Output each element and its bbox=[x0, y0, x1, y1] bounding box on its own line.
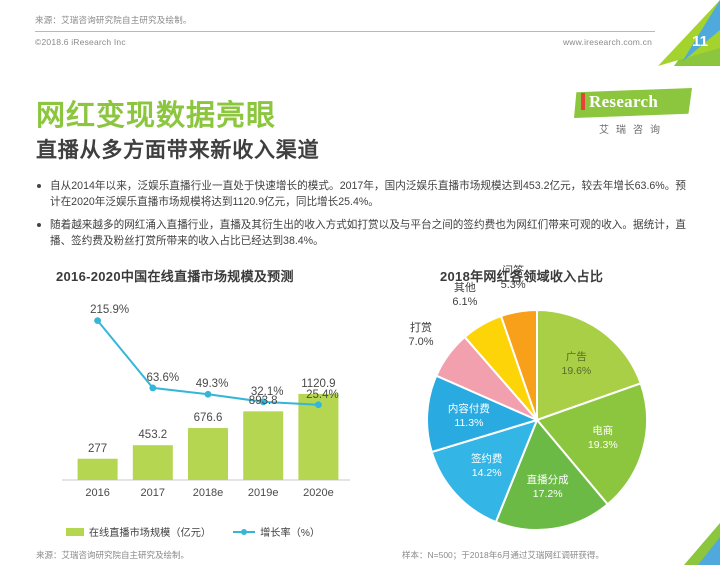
legend-item-growth-rate: 增长率（%） bbox=[233, 524, 320, 539]
bar-chart: 2772016453.22017676.62018e893.82019e1120… bbox=[28, 296, 358, 544]
website-url: www.iresearch.com.cn bbox=[563, 37, 652, 47]
pie-chart: 广告19.6%电商19.3%直播分成17.2%签约费14.2%内容付费11.3%… bbox=[372, 292, 707, 547]
pie-slice-value: 7.0% bbox=[408, 335, 433, 349]
corner-decoration-bottom-right-icon bbox=[660, 507, 720, 565]
legend-swatch-bar-icon bbox=[66, 528, 84, 536]
bar bbox=[78, 459, 118, 480]
pie-slice-label: 内容付费 bbox=[448, 402, 490, 416]
copyright-text: ©2018.6 iResearch Inc bbox=[35, 37, 126, 47]
legend-label: 增长率（%） bbox=[260, 524, 320, 539]
line-value-label: 25.4% bbox=[306, 389, 339, 401]
bar-value-label: 277 bbox=[88, 443, 107, 455]
bar bbox=[133, 445, 173, 480]
x-axis-tick: 2019e bbox=[248, 487, 279, 499]
bar-value-label: 676.6 bbox=[194, 412, 223, 424]
pie-slice-value: 14.2% bbox=[471, 466, 503, 480]
bar bbox=[243, 411, 283, 480]
pie-slice-value: 11.3% bbox=[448, 416, 490, 430]
pie-inner-label: 电商19.3% bbox=[588, 424, 618, 452]
x-axis-tick: 2016 bbox=[85, 487, 109, 499]
list-item: 随着越来越多的网红涌入直播行业，直播及其衍生出的收入方式如打赏以及与平台之间的签… bbox=[36, 217, 686, 249]
pie-slice-label: 签约费 bbox=[471, 452, 503, 466]
logo-i-dot-icon bbox=[581, 88, 585, 92]
slide-page: 来源：艾瑞咨询研究院自主研究及绘制。 ©2018.6 iResearch Inc… bbox=[0, 0, 720, 565]
footer-sample: 样本：N=500；于2018年6月通过艾瑞网红调研获得。 bbox=[402, 549, 604, 561]
pie-slice-value: 17.2% bbox=[527, 487, 569, 501]
pie-slice-value: 6.1% bbox=[452, 295, 477, 309]
pie-inner-label: 直播分成17.2% bbox=[527, 473, 569, 501]
page-number: 11 bbox=[692, 33, 708, 50]
pie-slice-value: 19.3% bbox=[588, 438, 618, 452]
bullet-list: 自从2014年以来，泛娱乐直播行业一直处于快速增长的模式。2017年，国内泛娱乐… bbox=[36, 178, 686, 256]
logo-chinese-name: 艾瑞咨询 bbox=[574, 121, 692, 136]
bar-chart-legend: 在线直播市场规模（亿元） 增长率（%） bbox=[28, 524, 358, 539]
x-axis-tick: 2020e bbox=[303, 487, 334, 499]
pie-outer-label: 打赏7.0% bbox=[408, 321, 433, 349]
logo-mark: Research bbox=[574, 88, 692, 118]
pie-inner-label: 签约费14.2% bbox=[471, 452, 503, 480]
pie-slice-label: 广告 bbox=[561, 350, 591, 364]
pie-slice-label: 打赏 bbox=[408, 321, 433, 335]
header-divider bbox=[35, 31, 655, 32]
pie-inner-label: 内容付费11.3% bbox=[448, 402, 490, 430]
legend-item-market-size: 在线直播市场规模（亿元） bbox=[66, 524, 211, 539]
list-item: 自从2014年以来，泛娱乐直播行业一直处于快速增长的模式。2017年，国内泛娱乐… bbox=[36, 178, 686, 210]
logo-wordmark: Research bbox=[589, 92, 658, 112]
x-axis-tick: 2018e bbox=[193, 487, 224, 499]
line-data-point bbox=[205, 391, 212, 398]
pie-slice-label: 直播分成 bbox=[527, 473, 569, 487]
pie-slice-label: 问答 bbox=[501, 264, 526, 278]
legend-label: 在线直播市场规模（亿元） bbox=[89, 524, 211, 539]
bar-value-label: 453.2 bbox=[138, 429, 167, 441]
line-value-label: 32.1% bbox=[251, 386, 284, 398]
pie-outer-label: 问答5.3% bbox=[501, 264, 526, 292]
corner-decoration-top-right-icon bbox=[648, 0, 720, 66]
page-subtitle: 直播从多方面带来新收入渠道 bbox=[36, 134, 319, 164]
legend-swatch-line-icon bbox=[233, 528, 255, 536]
pie-slice-value: 19.6% bbox=[561, 364, 591, 378]
footer-source: 来源：艾瑞咨询研究院自主研究及绘制。 bbox=[36, 549, 189, 561]
pie-inner-label: 广告19.6% bbox=[561, 350, 591, 378]
bar-chart-title: 2016-2020中国在线直播市场规模及预测 bbox=[56, 266, 294, 285]
pie-slice-value: 5.3% bbox=[501, 278, 526, 292]
iresearch-logo: Research 艾瑞咨询 bbox=[574, 88, 692, 136]
pie-slice-label: 电商 bbox=[588, 424, 618, 438]
line-data-point bbox=[315, 401, 322, 408]
line-data-point bbox=[149, 385, 156, 392]
line-value-label: 63.6% bbox=[146, 372, 179, 384]
header-source-note: 来源：艾瑞咨询研究院自主研究及绘制。 bbox=[35, 14, 192, 26]
line-data-point bbox=[94, 317, 101, 324]
pie-outer-label: 其他6.1% bbox=[452, 281, 477, 309]
page-title: 网红变现数据亮眼 bbox=[36, 92, 276, 134]
line-value-label: 49.3% bbox=[196, 378, 229, 390]
logo-i-stem-icon bbox=[581, 93, 585, 110]
bar bbox=[188, 428, 228, 480]
x-axis-tick: 2017 bbox=[141, 487, 165, 499]
pie-slice-label: 其他 bbox=[452, 281, 477, 295]
line-value-label: 215.9% bbox=[90, 304, 129, 316]
